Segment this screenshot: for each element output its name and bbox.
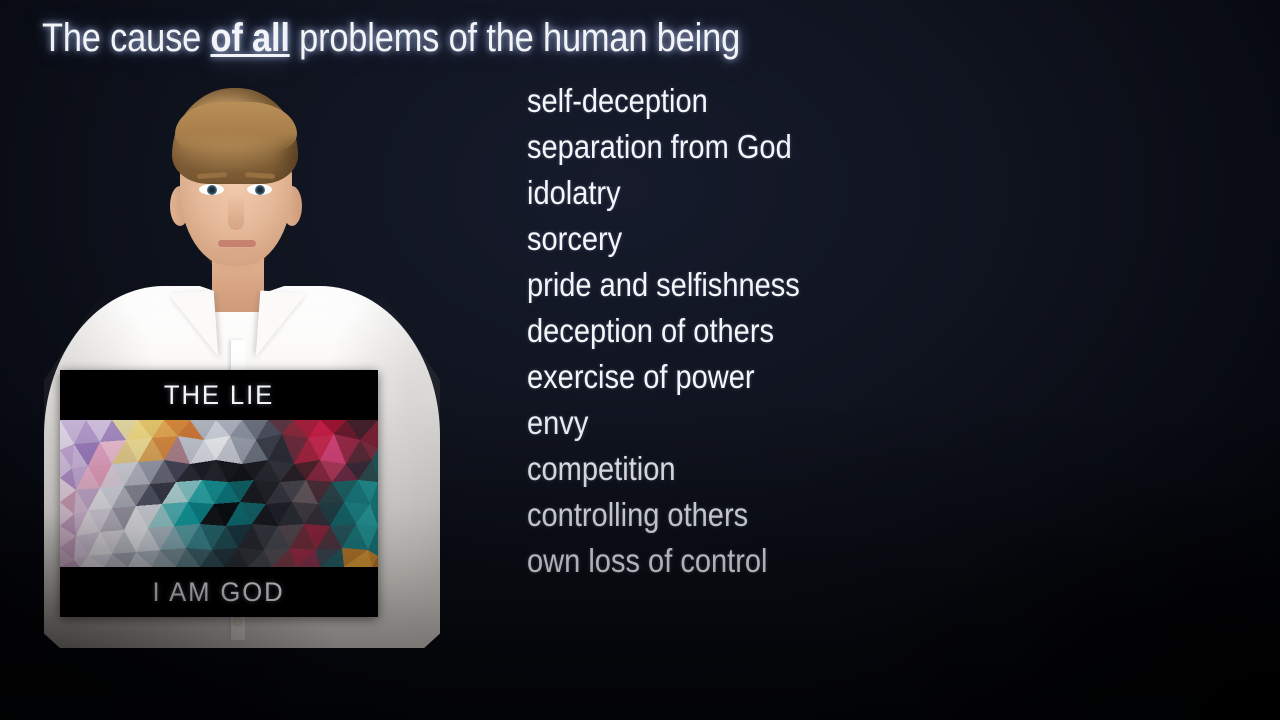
card-bottom-label: I AM GOD: [153, 577, 285, 608]
list-item: controlling others: [527, 492, 985, 538]
list-item: pride and selfishness: [527, 262, 985, 308]
list-item: competition: [527, 446, 985, 492]
list-item: envy: [527, 400, 985, 446]
collar-right: [256, 290, 306, 359]
title-emphasis: of all: [210, 16, 289, 60]
the-lie-card: THE LIE: [60, 370, 378, 617]
eye-left: [199, 184, 224, 195]
card-top-bar: THE LIE: [60, 370, 378, 420]
eye-right: [247, 184, 272, 195]
list-item: deception of others: [527, 308, 985, 354]
list-item: exercise of power: [527, 354, 985, 400]
hair-fringe: [175, 102, 297, 154]
low-poly-eye-icon: [60, 420, 378, 567]
presentation-slide: The cause of all problems of the human b…: [0, 0, 1280, 720]
list-item: idolatry: [527, 170, 985, 216]
mouth: [218, 240, 256, 247]
list-item: self-deception: [527, 78, 985, 124]
eye-artwork-svg: [60, 420, 378, 567]
slide-title: The cause of all problems of the human b…: [42, 12, 740, 64]
collar-left: [168, 290, 218, 359]
iris-left: [207, 185, 217, 195]
list-item: separation from God: [527, 124, 985, 170]
list-item: own loss of control: [527, 538, 985, 584]
iris-right: [255, 185, 265, 195]
nose: [228, 194, 244, 230]
list-item: sorcery: [527, 216, 985, 262]
problem-list: self-deception separation from God idola…: [527, 78, 1047, 584]
title-prefix: The cause: [42, 16, 210, 60]
card-top-label: THE LIE: [164, 380, 274, 411]
title-suffix: problems of the human being: [290, 16, 740, 60]
shirt-button: [234, 618, 241, 625]
card-bottom-bar: I AM GOD: [60, 567, 378, 617]
